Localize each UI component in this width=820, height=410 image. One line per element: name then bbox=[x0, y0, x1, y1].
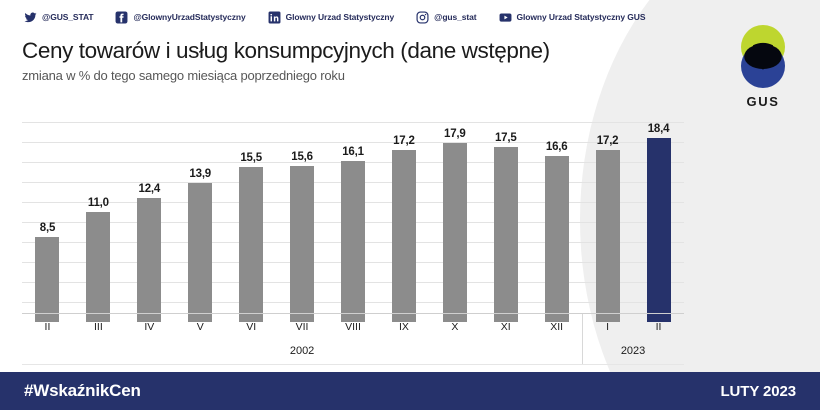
x-axis-tick: XI bbox=[480, 314, 531, 340]
social-link-label: @GlownyUrzadStatystyczny bbox=[133, 13, 245, 22]
social-link-twitter[interactable]: @GUS_STAT bbox=[24, 11, 93, 24]
bar-value-label: 17,9 bbox=[444, 128, 466, 140]
social-link-youtube[interactable]: Glowny Urzad Statystyczny GUS bbox=[499, 11, 646, 24]
bar-value-label: 18,4 bbox=[648, 123, 670, 135]
infographic-page: @GUS_STAT @GlownyUrzadStatystyczny Glown… bbox=[0, 0, 820, 410]
chart-bar[interactable]: 18,4 bbox=[647, 138, 671, 322]
x-axis-tick: VII bbox=[277, 314, 328, 340]
bar-value-label: 11,0 bbox=[88, 197, 109, 209]
bar-value-label: 16,6 bbox=[546, 141, 568, 153]
facebook-icon bbox=[115, 11, 128, 24]
gus-logo-text: GUS bbox=[726, 94, 800, 109]
x-axis-tick: XII bbox=[531, 314, 582, 340]
x-axis-year-labels: 20022023 bbox=[22, 338, 684, 364]
bar-value-label: 17,2 bbox=[597, 135, 619, 147]
chart-bar[interactable]: 13,9 bbox=[188, 183, 212, 322]
x-axis-tick-labels: IIIIIIVVVIVIIVIIIIXXXIXIIIII bbox=[22, 314, 684, 340]
chart-bar[interactable]: 8,5 bbox=[35, 237, 59, 322]
bar-slot: 15,6 bbox=[277, 122, 328, 322]
x-axis-tick: V bbox=[175, 314, 226, 340]
chart-bar[interactable]: 11,0 bbox=[86, 212, 110, 322]
bar-value-label: 17,5 bbox=[495, 132, 517, 144]
bar-slot: 17,5 bbox=[480, 122, 531, 322]
footer-hashtag: #WskaźnikCen bbox=[24, 381, 141, 401]
instagram-icon bbox=[416, 11, 429, 24]
page-subtitle: zmiana w % do tego samego miesiąca poprz… bbox=[22, 68, 345, 83]
bar-value-label: 12,4 bbox=[139, 183, 161, 195]
chart-bar[interactable]: 12,4 bbox=[137, 198, 161, 322]
bar-slot: 17,2 bbox=[582, 122, 633, 322]
youtube-icon bbox=[499, 11, 512, 24]
bar-slot: 11,0 bbox=[73, 122, 124, 322]
x-axis-tick: X bbox=[429, 314, 480, 340]
x-axis-tick: IV bbox=[124, 314, 175, 340]
x-axis-tick: VIII bbox=[328, 314, 379, 340]
social-link-label: Glowny Urzad Statystyczny bbox=[286, 13, 395, 22]
social-link-facebook[interactable]: @GlownyUrzadStatystyczny bbox=[115, 11, 245, 24]
chart-bar[interactable]: 15,6 bbox=[290, 166, 314, 322]
social-link-label: @gus_stat bbox=[434, 13, 476, 22]
social-links-bar: @GUS_STAT @GlownyUrzadStatystyczny Glown… bbox=[0, 0, 820, 34]
bar-value-label: 8,5 bbox=[40, 222, 55, 234]
bar-slot: 13,9 bbox=[175, 122, 226, 322]
x-axis-tick: IX bbox=[378, 314, 429, 340]
gus-logo: GUS bbox=[726, 24, 800, 120]
chart-plot-area: 8,511,012,413,915,515,616,117,217,917,51… bbox=[22, 122, 684, 322]
chart-bar[interactable]: 17,2 bbox=[392, 150, 416, 322]
gus-logo-mark bbox=[726, 24, 800, 90]
x-axis-tick: I bbox=[582, 314, 633, 340]
bar-value-label: 17,2 bbox=[393, 135, 415, 147]
bar-slot: 8,5 bbox=[22, 122, 73, 322]
x-axis-year-label: 2002 bbox=[22, 338, 582, 364]
bar-chart: 8,511,012,413,915,515,616,117,217,917,51… bbox=[22, 112, 684, 322]
bar-slot: 12,4 bbox=[124, 122, 175, 322]
footer-bar: #WskaźnikCen LUTY 2023 bbox=[0, 372, 820, 410]
bar-value-label: 15,6 bbox=[291, 151, 313, 163]
x-axis-year-label: 2023 bbox=[582, 338, 684, 364]
x-axis-tick: II bbox=[22, 314, 73, 340]
bar-slot: 17,9 bbox=[429, 122, 480, 322]
chart-bar[interactable]: 17,9 bbox=[443, 143, 467, 322]
year-group-separator bbox=[582, 314, 583, 364]
social-link-linkedin[interactable]: Glowny Urzad Statystyczny bbox=[268, 11, 395, 24]
bar-slot: 17,2 bbox=[378, 122, 429, 322]
social-link-label: Glowny Urzad Statystyczny GUS bbox=[517, 13, 646, 22]
x-axis-tick: III bbox=[73, 314, 124, 340]
social-link-label: @GUS_STAT bbox=[42, 13, 93, 22]
bar-slot: 16,6 bbox=[531, 122, 582, 322]
bar-slot: 15,5 bbox=[226, 122, 277, 322]
chart-bar[interactable]: 16,6 bbox=[545, 156, 569, 322]
chart-x-axis: IIIIIIVVVIVIIVIIIIXXXIXIIIII 20022023 bbox=[22, 313, 684, 365]
bar-slot: 18,4 bbox=[633, 122, 684, 322]
x-axis-tick: II bbox=[633, 314, 684, 340]
twitter-icon bbox=[24, 11, 37, 24]
social-link-instagram[interactable]: @gus_stat bbox=[416, 11, 476, 24]
linkedin-icon bbox=[268, 11, 281, 24]
chart-bar[interactable]: 16,1 bbox=[341, 161, 365, 322]
chart-bar[interactable]: 17,5 bbox=[494, 147, 518, 322]
bar-slot: 16,1 bbox=[328, 122, 379, 322]
bar-value-label: 15,5 bbox=[240, 152, 262, 164]
bar-value-label: 13,9 bbox=[189, 168, 211, 180]
bar-value-label: 16,1 bbox=[342, 146, 364, 158]
chart-bar[interactable]: 15,5 bbox=[239, 167, 263, 322]
x-axis-tick: VI bbox=[226, 314, 277, 340]
footer-period: LUTY 2023 bbox=[720, 383, 796, 400]
page-title: Ceny towarów i usług konsumpcyjnych (dan… bbox=[22, 38, 550, 64]
chart-bar[interactable]: 17,2 bbox=[596, 150, 620, 322]
